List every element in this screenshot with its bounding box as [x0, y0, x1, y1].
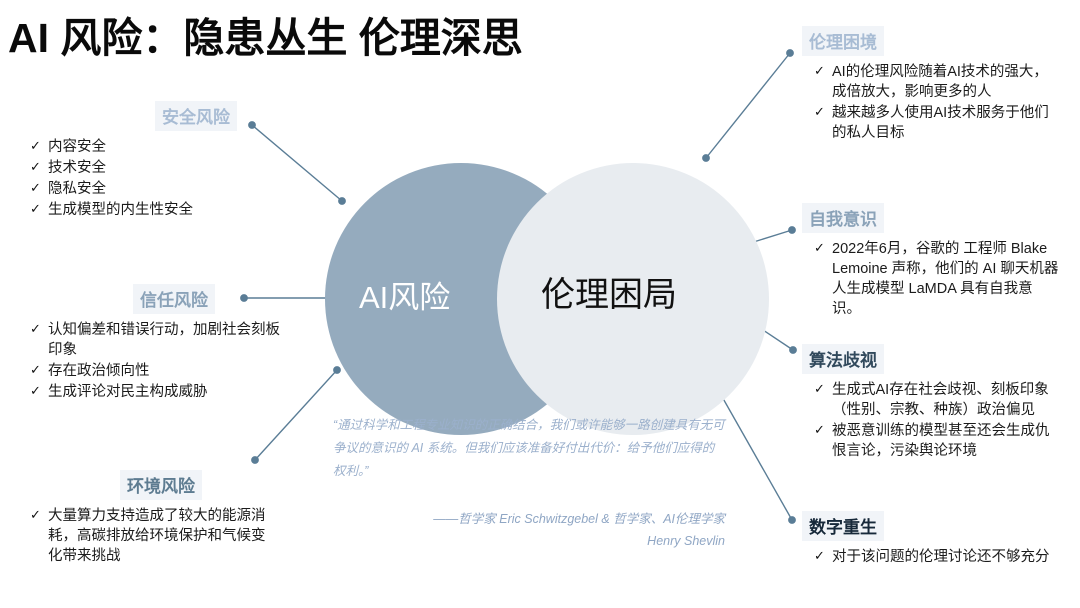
- bullet-list-ethics: ✓AI的伦理风险随着AI技术的强大，成倍放大，影响更多的人 ✓越来越多人使用AI…: [802, 62, 1060, 143]
- slide-canvas: AI 风险：隐患丛生 伦理深思 AI风险: [0, 0, 1080, 608]
- block-trust-risk: 信任风险 ✓认知偏差和错误行动，加剧社会刻板印象 ✓存在政治倾向性 ✓生成评论对…: [30, 284, 282, 403]
- heading-algorithmic-bias: 算法歧视: [802, 344, 884, 374]
- bullet-text: 存在政治倾向性: [48, 361, 282, 381]
- list-item: ✓内容安全: [30, 137, 280, 157]
- list-item: ✓存在政治倾向性: [30, 361, 282, 381]
- block-environment-risk: 环境风险 ✓大量算力支持造成了较大的能源消耗，高碳排放给环境保护和气候变化带来挑…: [30, 470, 278, 567]
- list-item: ✓越来越多人使用AI技术服务于他们的私人目标: [814, 103, 1060, 143]
- venn-label-ethics: 伦理困局: [541, 267, 677, 316]
- check-icon: ✓: [814, 547, 832, 566]
- bullet-list-security: ✓内容安全 ✓技术安全 ✓隐私安全 ✓生成模型的内生性安全: [30, 137, 280, 220]
- block-algorithmic-bias: 算法歧视 ✓生成式AI存在社会歧视、刻板印象（性别、宗教、种族）政治偏见 ✓被恶…: [802, 344, 1060, 462]
- bullet-text: 生成式AI存在社会歧视、刻板印象（性别、宗教、种族）政治偏见: [832, 380, 1060, 420]
- list-item: ✓认知偏差和错误行动，加剧社会刻板印象: [30, 320, 282, 360]
- bullet-text: 对于该问题的伦理讨论还不够充分: [832, 547, 1060, 567]
- bullet-text: 内容安全: [48, 137, 280, 157]
- bullet-text: 生成模型的内生性安全: [48, 200, 280, 220]
- block-ethical-dilemma: 伦理困境 ✓AI的伦理风险随着AI技术的强大，成倍放大，影响更多的人 ✓越来越多…: [802, 26, 1060, 144]
- bullet-list-self-awareness: ✓2022年6月，谷歌的 工程师 Blake Lemoine 声称，他们的 AI…: [802, 239, 1060, 319]
- block-self-awareness: 自我意识 ✓2022年6月，谷歌的 工程师 Blake Lemoine 声称，他…: [802, 203, 1060, 320]
- heading-self-awareness: 自我意识: [802, 203, 884, 233]
- list-item: ✓AI的伦理风险随着AI技术的强大，成倍放大，影响更多的人: [814, 62, 1060, 102]
- check-icon: ✓: [30, 158, 48, 177]
- bullet-text: AI的伦理风险随着AI技术的强大，成倍放大，影响更多的人: [832, 62, 1060, 102]
- list-item: ✓对于该问题的伦理讨论还不够充分: [814, 547, 1060, 567]
- block-digital-rebirth: 数字重生 ✓对于该问题的伦理讨论还不够充分: [802, 511, 1060, 568]
- list-item: ✓生成式AI存在社会歧视、刻板印象（性别、宗教、种族）政治偏见: [814, 380, 1060, 420]
- bullet-text: 被恶意训练的模型甚至还会生成仇恨言论，污染舆论环境: [832, 421, 1060, 461]
- bullet-text: 技术安全: [48, 158, 280, 178]
- venn-label-ai-risk: AI风险: [359, 272, 450, 317]
- check-icon: ✓: [814, 103, 832, 122]
- bullet-text: 认知偏差和错误行动，加剧社会刻板印象: [48, 320, 282, 360]
- check-icon: ✓: [814, 380, 832, 399]
- list-item: ✓隐私安全: [30, 179, 280, 199]
- check-icon: ✓: [30, 200, 48, 219]
- check-icon: ✓: [814, 62, 832, 81]
- heading-ethical-dilemma: 伦理困境: [802, 26, 884, 56]
- bullet-list-environment: ✓大量算力支持造成了较大的能源消耗，高碳排放给环境保护和气候变化带来挑战: [30, 506, 278, 566]
- check-icon: ✓: [30, 179, 48, 198]
- bullet-text: 越来越多人使用AI技术服务于他们的私人目标: [832, 103, 1060, 143]
- check-icon: ✓: [30, 320, 48, 339]
- list-item: ✓被恶意训练的模型甚至还会生成仇恨言论，污染舆论环境: [814, 421, 1060, 461]
- list-item: ✓生成评论对民主构成威胁: [30, 382, 282, 402]
- bullet-list-trust: ✓认知偏差和错误行动，加剧社会刻板印象 ✓存在政治倾向性 ✓生成评论对民主构成威…: [30, 320, 282, 402]
- page-title: AI 风险：隐患丛生 伦理深思: [8, 4, 523, 64]
- bullet-text: 2022年6月，谷歌的 工程师 Blake Lemoine 声称，他们的 AI …: [832, 239, 1060, 319]
- bullet-list-algorithmic-bias: ✓生成式AI存在社会歧视、刻板印象（性别、宗教、种族）政治偏见 ✓被恶意训练的模…: [802, 380, 1060, 461]
- list-item: ✓2022年6月，谷歌的 工程师 Blake Lemoine 声称，他们的 AI…: [814, 239, 1060, 319]
- bullet-list-digital-rebirth: ✓对于该问题的伦理讨论还不够充分: [802, 547, 1060, 567]
- bullet-text: 生成评论对民主构成威胁: [48, 382, 282, 402]
- quote-text: “通过科学和工程专业知识的正确结合，我们或许能够一路创建具有无可争议的意识的 A…: [333, 414, 725, 483]
- heading-environment-risk: 环境风险: [120, 470, 202, 500]
- list-item: ✓大量算力支持造成了较大的能源消耗，高碳排放给环境保护和气候变化带来挑战: [30, 506, 278, 566]
- list-item: ✓技术安全: [30, 158, 280, 178]
- list-item: ✓生成模型的内生性安全: [30, 200, 280, 220]
- heading-digital-rebirth: 数字重生: [802, 511, 884, 541]
- check-icon: ✓: [30, 361, 48, 380]
- check-icon: ✓: [814, 239, 832, 258]
- bullet-text: 大量算力支持造成了较大的能源消耗，高碳排放给环境保护和气候变化带来挑战: [48, 506, 278, 566]
- heading-security-risk: 安全风险: [155, 101, 237, 131]
- bullet-text: 隐私安全: [48, 179, 280, 199]
- block-security-risk: 安全风险 ✓内容安全 ✓技术安全 ✓隐私安全 ✓生成模型的内生性安全: [30, 101, 280, 221]
- heading-trust-risk: 信任风险: [133, 284, 215, 314]
- check-icon: ✓: [814, 421, 832, 440]
- check-icon: ✓: [30, 137, 48, 156]
- quote-attribution: ——哲学家 Eric Schwitzgebel & 哲学家、AI伦理学家Henr…: [425, 509, 725, 553]
- check-icon: ✓: [30, 382, 48, 401]
- check-icon: ✓: [30, 506, 48, 525]
